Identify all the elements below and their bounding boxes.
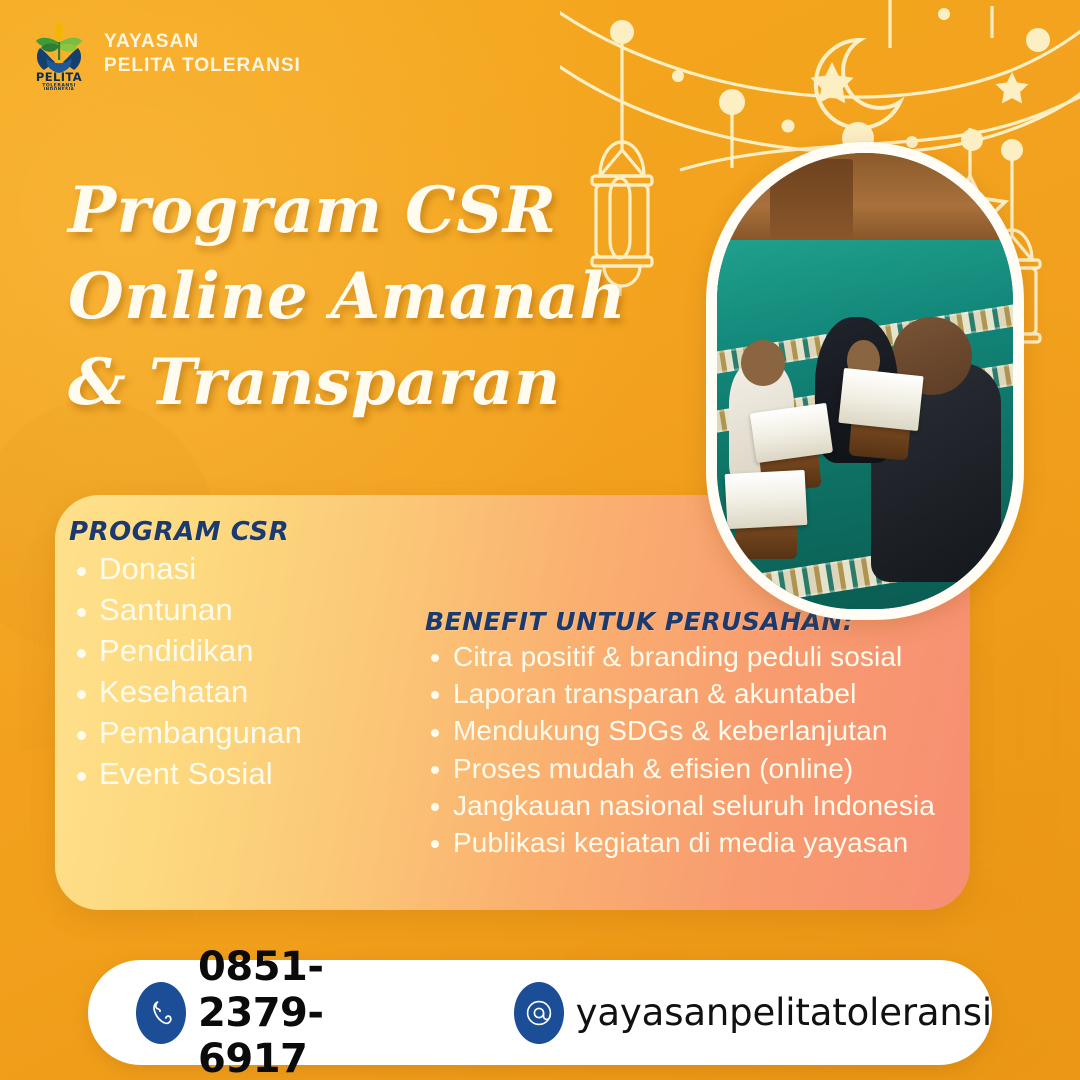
- list-item: Citra positif & branding peduli sosial: [425, 638, 970, 675]
- phone-icon: [136, 982, 186, 1044]
- garland-bulbs: [610, 8, 1050, 161]
- list-item: Jangkauan nasional seluruh Indonesia: [425, 787, 970, 824]
- contact-social-handle[interactable]: yayasanpelitatoleransi: [514, 982, 992, 1044]
- program-heading: PROGRAM CSR: [69, 517, 399, 547]
- headline-line-3: & Transparan: [68, 340, 708, 426]
- list-item: Santunan: [69, 590, 399, 631]
- photo-mosque-wall: [717, 153, 1013, 249]
- at-glyph: [524, 998, 554, 1028]
- brand-header: PELITA TOLERANSI INDONESIA YAYASAN PELIT…: [28, 18, 301, 90]
- program-section: PROGRAM CSR Donasi Santunan Pendidikan K…: [69, 517, 399, 794]
- star-icon: [996, 72, 1029, 104]
- benefits-list: Citra positif & branding peduli sosial L…: [425, 638, 970, 861]
- list-item: Mendukung SDGs & keberlanjutan: [425, 712, 970, 749]
- contact-phone[interactable]: 0851-2379-6917: [136, 944, 416, 1080]
- poster-canvas: PELITA TOLERANSI INDONESIA YAYASAN PELIT…: [0, 0, 1080, 1080]
- headline-line-2: Online Amanah: [68, 254, 708, 340]
- hands-holding-plant-icon: PELITA TOLERANSI INDONESIA: [28, 18, 90, 90]
- social-handle: yayasanpelitatoleransi: [576, 991, 992, 1034]
- program-list: Donasi Santunan Pendidikan Kesehatan Pem…: [69, 549, 399, 794]
- photo-student-boy-head: [741, 340, 785, 386]
- star-icon: [810, 62, 853, 103]
- list-item: Kesehatan: [69, 672, 399, 713]
- logo-svg: PELITA TOLERANSI INDONESIA: [28, 18, 90, 90]
- hero-photo: [717, 153, 1013, 609]
- list-item: Publikasi kegiatan di media yayasan: [425, 824, 970, 861]
- phone-number: 0851-2379-6917: [198, 944, 416, 1080]
- list-item: Donasi: [69, 549, 399, 590]
- list-item: Pendidikan: [69, 631, 399, 672]
- photo-open-quran: [724, 470, 807, 529]
- svg-text:INDONESIA: INDONESIA: [44, 86, 75, 90]
- brand-name-line2: PELITA TOLERANSI: [104, 54, 301, 78]
- phone-glyph: [149, 1000, 173, 1026]
- list-item: Laporan transparan & akuntabel: [425, 675, 970, 712]
- hero-photo-frame: [706, 142, 1024, 620]
- benefits-section: BENEFIT UNTUK PERUSAHAN: Citra positif &…: [425, 607, 970, 861]
- headline-line-1: Program CSR: [68, 168, 708, 254]
- brand-name-line1: YAYASAN: [104, 30, 301, 54]
- photo-open-quran: [839, 368, 924, 431]
- svg-text:PELITA: PELITA: [36, 70, 82, 84]
- page-title: Program CSR Online Amanah & Transparan: [68, 168, 708, 425]
- string-lights-garland: [560, 6, 1080, 97]
- string-lights-garland: [560, 60, 1080, 153]
- at-sign-icon: [514, 982, 564, 1044]
- crescent-moon-icon: [816, 40, 900, 128]
- list-item: Event Sosial: [69, 754, 399, 795]
- list-item: Proses mudah & efisien (online): [425, 750, 970, 787]
- contact-bar: 0851-2379-6917 yayasanpelitatoleransi: [88, 960, 992, 1065]
- brand-name: YAYASAN PELITA TOLERANSI: [104, 30, 301, 78]
- watermark-arch: [1016, 640, 1060, 760]
- list-item: Pembangunan: [69, 713, 399, 754]
